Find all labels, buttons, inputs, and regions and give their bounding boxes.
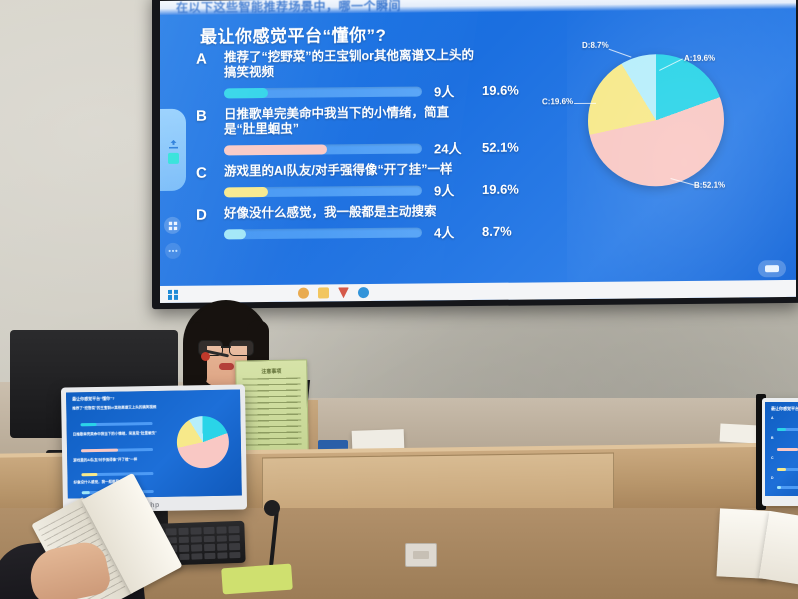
- option-text: 推荐了“挖野菜”的王宝钏or其他离谱又上头的搞笑视频: [224, 48, 474, 80]
- notice-body-text: [242, 377, 301, 451]
- upload-icon[interactable]: [167, 136, 180, 147]
- mini-option-c-text: 游戏里的AI队友/对手强得像“开了挂”一样: [73, 457, 169, 464]
- option-letter: B: [196, 108, 214, 125]
- option-bar-fill: [224, 144, 327, 155]
- mini-bar-a: [777, 428, 798, 431]
- option-bar-fill: [224, 88, 268, 98]
- poll-pie-chart: A:19.6% B:52.1% C:19.6% D:8.7%: [558, 35, 748, 217]
- option-bar-track: [224, 227, 422, 239]
- interactive-whiteboard[interactable]: 在以下这些智能推荐场景中，哪一个瞬间 最让你感觉平台“懂你”? A 推荐了“挖野…: [152, 0, 798, 309]
- power-socket: [405, 543, 437, 567]
- mini-option-b-text: 日推歌单完美命中我当下的小情绪，简直是“肚里蛔虫”: [73, 431, 169, 438]
- mini-option-b: B: [771, 436, 774, 440]
- option-text: 好像没什么感觉，我一般都是主动搜索: [224, 204, 474, 221]
- poll-option-c[interactable]: C 游戏里的AI队友/对手强得像“开了挂”一样 9人 19.6%: [196, 162, 526, 202]
- app-icon[interactable]: [338, 287, 349, 298]
- mini-bar-c: [81, 472, 153, 476]
- more-options-icon[interactable]: [165, 243, 181, 259]
- option-result-row: 4人 8.7%: [224, 222, 526, 244]
- taskbar-icon-group[interactable]: [298, 287, 369, 299]
- option-percent: 52.1%: [482, 140, 519, 155]
- notice-heading: 注意事项: [236, 367, 306, 375]
- option-text: 游戏里的AI队友/对手强得像“开了挂”一样: [224, 162, 474, 179]
- desk-microphone-head: [264, 500, 280, 516]
- mini-bar-b: [777, 448, 798, 451]
- stop-square-icon[interactable]: [168, 152, 179, 163]
- option-letter: D: [196, 207, 214, 224]
- chrome-icon[interactable]: [298, 288, 309, 299]
- mini-question: 最让你感觉平台“懂你”?: [72, 396, 115, 403]
- mini-option-c: C: [771, 456, 774, 460]
- pie-graphic: [588, 54, 724, 187]
- mini-bar-a: [81, 422, 153, 426]
- mini-option-d: D: [771, 476, 774, 480]
- folder-icon[interactable]: [318, 287, 329, 298]
- poll-options-list: A 推荐了“挖野菜”的王宝钏or其他离谱又上头的搞笑视频 9人 19.6% B: [196, 48, 526, 249]
- poll-option-d[interactable]: D 好像没什么感觉，我一般都是主动搜索 4人 8.7%: [196, 204, 526, 244]
- headset-mic-head: [201, 352, 210, 361]
- option-percent: 19.6%: [482, 182, 519, 197]
- mini-bar-b: [81, 448, 153, 452]
- option-count: 24人: [434, 138, 468, 157]
- whiteboard-screen[interactable]: 在以下这些智能推荐场景中，哪一个瞬间 最让你感觉平台“懂你”? A 推荐了“挖野…: [160, 0, 796, 303]
- grid-icon[interactable]: [164, 217, 181, 234]
- mirrored-slide-main: 最让你感觉平台“懂你”? 推荐了“挖野菜”的王宝钏or其他离谱又上头的搞笑视频 …: [66, 389, 242, 498]
- pie-leader-line: [574, 103, 596, 104]
- option-text: 日推歌单完美命中我当下的小情绪，简直是“肚里蛔虫”: [224, 105, 474, 137]
- pie-label-b: B:52.1%: [694, 181, 725, 190]
- option-bar-track: [224, 185, 422, 197]
- green-notepad: [221, 564, 293, 595]
- poll-slide: 在以下这些智能推荐场景中，哪一个瞬间 最让你感觉平台“懂你”? A 推荐了“挖野…: [160, 0, 796, 303]
- main-monitor-screen: 最让你感觉平台“懂你”? 推荐了“挖野菜”的王宝钏or其他离谱又上头的搞笑视频 …: [66, 389, 242, 498]
- option-letter: C: [196, 165, 214, 182]
- pie-label-d: D:8.7%: [582, 41, 609, 50]
- minimize-pill-icon[interactable]: [758, 260, 786, 277]
- option-result-row: 9人 19.6%: [224, 81, 526, 103]
- mini-option-a: A: [771, 416, 774, 420]
- presenter-mouth: [219, 363, 234, 370]
- option-percent: 8.7%: [482, 224, 512, 239]
- mini-pie-chart: [176, 416, 229, 469]
- classroom-scene: 在以下这些智能推荐场景中，哪一个瞬间 最让你感觉平台“懂你”? A 推荐了“挖野…: [0, 0, 798, 599]
- poll-option-a[interactable]: A 推荐了“挖野菜”的王宝钏or其他离谱又上头的搞笑视频 9人 19.6%: [196, 48, 526, 103]
- edge-icon[interactable]: [358, 287, 369, 298]
- option-bar-track: [224, 143, 422, 155]
- option-count: 9人: [434, 180, 468, 199]
- mini-option-a-text: 推荐了“挖野菜”的王宝钏or其他离谱又上头的搞笑视频: [72, 405, 168, 412]
- option-count: 9人: [434, 81, 468, 100]
- notice-sheet: 注意事项: [235, 359, 309, 458]
- slide-side-dock[interactable]: [160, 109, 186, 191]
- right-monitor[interactable]: 最让你感觉平台“懂你”? A B C D: [762, 398, 798, 506]
- mirrored-slide-right: 最让你感觉平台“懂你”? A B C D: [765, 402, 798, 496]
- windows-start-icon[interactable]: [168, 289, 178, 299]
- option-letter: A: [196, 51, 214, 68]
- mini-question: 最让你感觉平台“懂你”?: [771, 406, 798, 412]
- option-count: 4人: [434, 222, 468, 241]
- glasses-lens-right: [229, 340, 254, 356]
- mini-bar-c: [777, 468, 798, 471]
- poll-question: 最让你感觉平台“懂你”?: [200, 21, 386, 48]
- option-result-row: 9人 19.6%: [224, 180, 526, 202]
- option-percent: 19.6%: [482, 83, 519, 98]
- mini-bar-d: [777, 486, 798, 489]
- option-result-row: 24人 52.1%: [224, 138, 526, 160]
- option-bar-track: [224, 86, 422, 98]
- option-bar-fill: [224, 229, 246, 239]
- pie-label-a: A:19.6%: [684, 54, 715, 63]
- open-book-secondary: [715, 507, 798, 587]
- pie-label-c: C:19.6%: [542, 97, 573, 106]
- poll-option-b[interactable]: B 日推歌单完美命中我当下的小情绪，简直是“肚里蛔虫” 24人 52.1%: [196, 105, 526, 160]
- pie-leader-line: [609, 49, 632, 58]
- option-bar-fill: [224, 187, 268, 197]
- right-monitor-screen: 最让你感觉平台“懂你”? A B C D: [765, 402, 798, 496]
